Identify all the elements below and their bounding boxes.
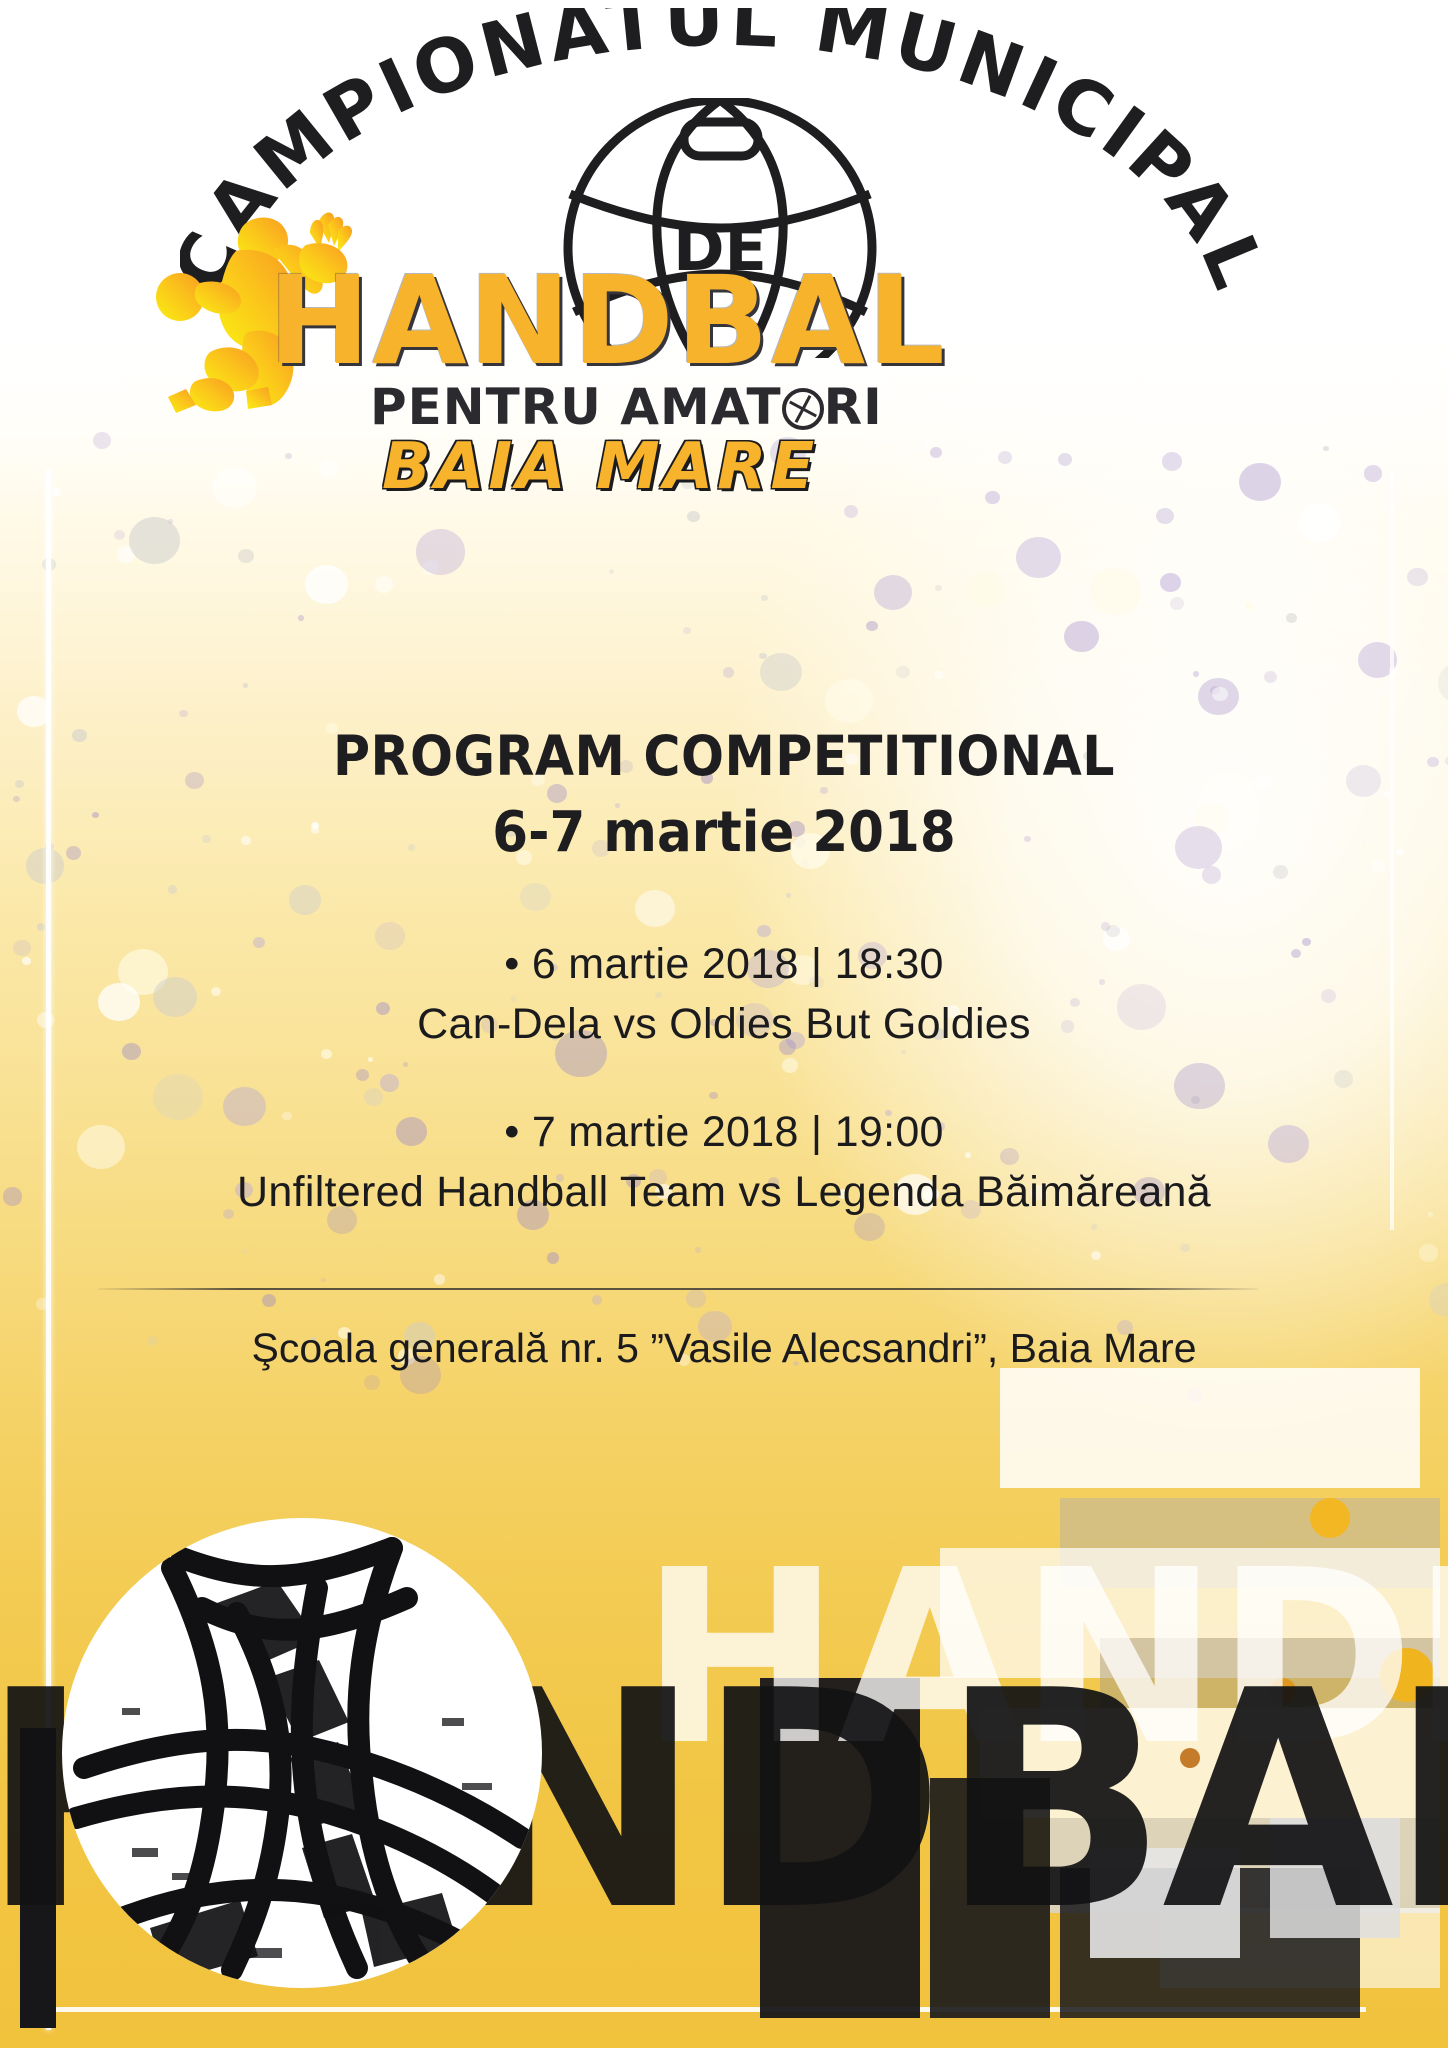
bottom-grunge-artwork: HANDBALL HANDBALL xyxy=(0,1348,1448,2048)
program-dates: 6-7 martie 2018 xyxy=(58,800,1390,865)
match-bullet: • xyxy=(504,940,519,988)
match-when: • 6 martie 2018 | 18:30 xyxy=(0,940,1448,989)
program-title: PROGRAM COMPETITIONAL xyxy=(58,724,1390,788)
match-when-text: 6 martie 2018 | 18:30 xyxy=(532,940,944,988)
match-entry: • 7 martie 2018 | 19:00 Unfiltered Handb… xyxy=(0,1108,1448,1217)
match-entry: • 6 martie 2018 | 18:30 Can-Dela vs Oldi… xyxy=(0,940,1448,1049)
section-divider xyxy=(98,1288,1258,1290)
match-when: • 7 martie 2018 | 19:00 xyxy=(0,1108,1448,1157)
match-when-text: 7 martie 2018 | 19:00 xyxy=(532,1108,944,1156)
match-bullet: • xyxy=(504,1108,519,1156)
match-teams: Unfiltered Handball Team vs Legenda Băim… xyxy=(0,1168,1448,1217)
poster-canvas: CAMPIONATUL MUNICIPAL DE xyxy=(0,0,1448,2048)
large-handball-svg xyxy=(62,1518,542,1988)
collage-block xyxy=(1000,1368,1420,1488)
large-handball-graphic xyxy=(62,1518,542,1988)
match-teams: Can-Dela vs Oldies But Goldies xyxy=(0,1000,1448,1049)
